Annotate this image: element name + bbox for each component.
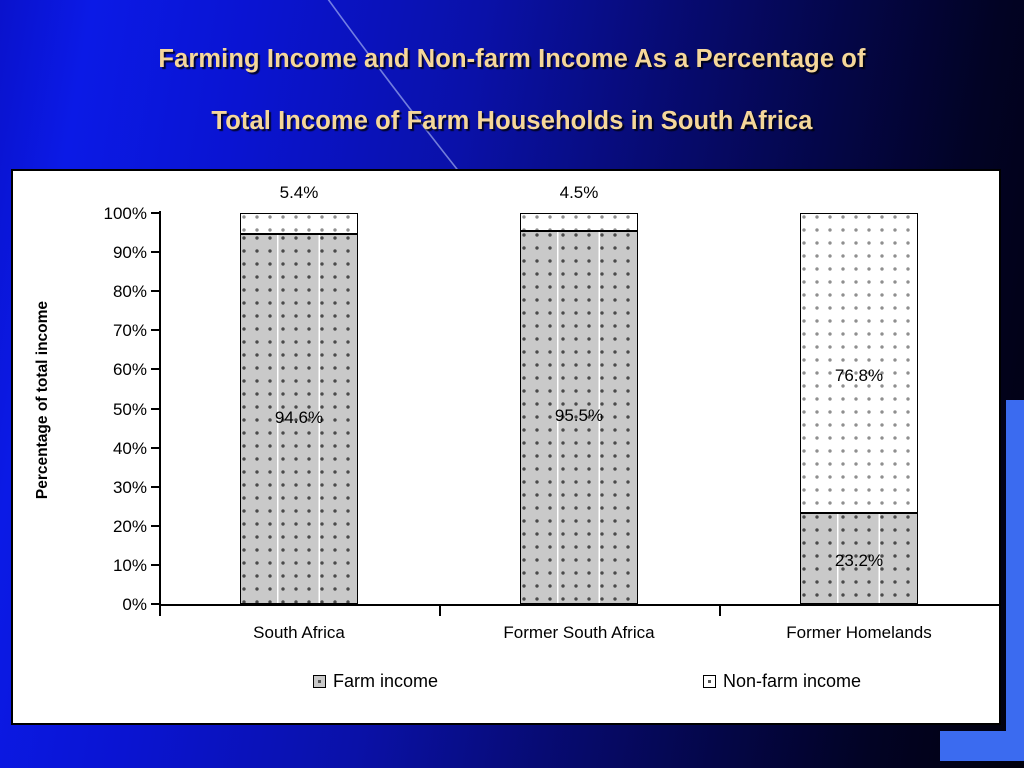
- y-tick-mark: [151, 525, 159, 527]
- y-tick-label: 40%: [75, 440, 147, 457]
- bar-group[interactable]: 94.6%5.4%: [240, 213, 358, 604]
- title-line-2: Total Income of Farm Households in South…: [0, 90, 1024, 152]
- bar-top-label-nonfarm: 5.4%: [240, 183, 358, 203]
- bar-group[interactable]: 23.2%76.8%: [800, 213, 918, 604]
- y-tick-mark: [151, 368, 159, 370]
- y-tick-label: 90%: [75, 244, 147, 261]
- y-tick-label: 80%: [75, 283, 147, 300]
- y-tick-mark: [151, 212, 159, 214]
- y-tick-mark: [151, 564, 159, 566]
- y-tick-mark: [151, 251, 159, 253]
- bar-segment-nonfarm[interactable]: [520, 213, 638, 231]
- bar-segment-nonfarm[interactable]: [800, 213, 918, 513]
- y-tick-label: 70%: [75, 322, 147, 339]
- y-tick-label: 50%: [75, 401, 147, 418]
- y-tick-label: 60%: [75, 361, 147, 378]
- x-category-label: Former Homelands: [719, 623, 999, 643]
- legend-swatch-nonfarm-icon: [703, 675, 716, 688]
- x-axis-line: [159, 604, 999, 606]
- y-tick-label: 30%: [75, 479, 147, 496]
- legend-swatch-farm-icon: [313, 675, 326, 688]
- bar-segment-nonfarm[interactable]: [240, 213, 358, 234]
- legend-label: Non-farm income: [723, 671, 861, 692]
- bar-value-label-farm: 95.5%: [520, 406, 638, 426]
- y-tick-mark: [151, 408, 159, 410]
- x-tick-mark: [999, 606, 1001, 616]
- x-tick-mark: [719, 606, 721, 616]
- legend-item-farm[interactable]: Farm income: [313, 671, 438, 692]
- plot-area: Percentage of total income 100%90%80%70%…: [13, 171, 999, 723]
- bar-group[interactable]: 95.5%4.5%: [520, 213, 638, 604]
- x-category-label: South Africa: [159, 623, 439, 643]
- legend-label: Farm income: [333, 671, 438, 692]
- accent-bar-bottom: [940, 731, 1024, 761]
- bar-value-label-farm: 23.2%: [800, 551, 918, 571]
- bar-top-label-nonfarm: 4.5%: [520, 183, 638, 203]
- chart-panel: Percentage of total income 100%90%80%70%…: [11, 169, 1001, 725]
- y-axis-line: [159, 211, 161, 606]
- y-tick-mark: [151, 329, 159, 331]
- y-tick-mark: [151, 447, 159, 449]
- slide-canvas: Farming Income and Non-farm Income As a …: [0, 0, 1024, 768]
- y-tick-mark: [151, 290, 159, 292]
- chart-legend: Farm incomeNon-farm income: [13, 671, 999, 711]
- bar-value-label-nonfarm: 76.8%: [800, 366, 918, 386]
- x-category-label: Former South Africa: [439, 623, 719, 643]
- x-tick-mark: [439, 606, 441, 616]
- y-tick-mark: [151, 603, 159, 605]
- y-tick-label: 0%: [75, 596, 147, 613]
- legend-item-nonfarm[interactable]: Non-farm income: [703, 671, 861, 692]
- bar-value-label-farm: 94.6%: [240, 408, 358, 428]
- y-tick-label: 10%: [75, 557, 147, 574]
- y-tick-label: 100%: [75, 205, 147, 222]
- y-axis-title: Percentage of total income: [34, 220, 52, 580]
- y-tick-label: 20%: [75, 518, 147, 535]
- accent-bar-right: [1006, 400, 1024, 750]
- y-tick-mark: [151, 486, 159, 488]
- x-tick-mark: [159, 606, 161, 616]
- page-title: Farming Income and Non-farm Income As a …: [0, 28, 1024, 152]
- title-line-1: Farming Income and Non-farm Income As a …: [0, 28, 1024, 90]
